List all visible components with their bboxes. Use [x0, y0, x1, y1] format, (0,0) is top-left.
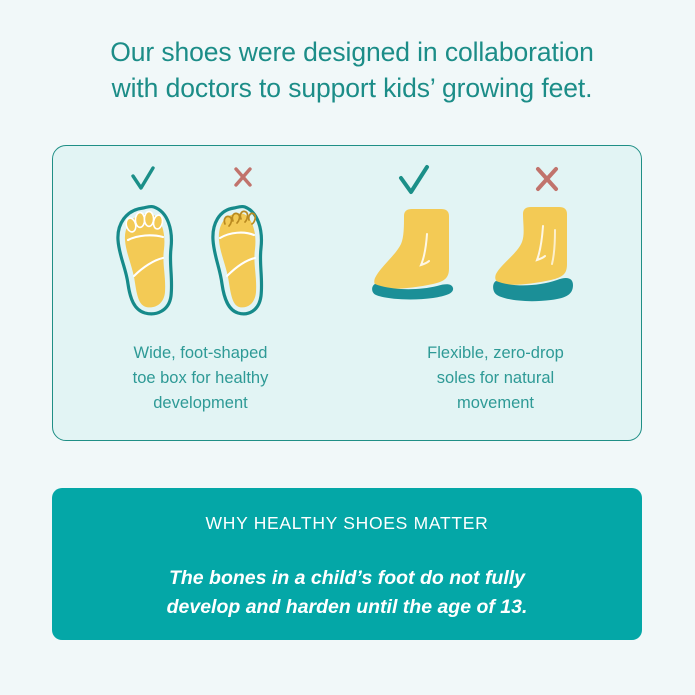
foot-narrow: [212, 206, 261, 313]
caption-line-3: movement: [376, 391, 616, 416]
boot-flat: [372, 209, 453, 299]
feature-zero-drop-sole: Flexible, zero-drop soles for natural mo…: [348, 146, 643, 440]
feature-toe-box: Wide, foot-shaped toe box for healthy de…: [53, 146, 348, 440]
boots-illustration: [348, 164, 643, 324]
banner-title: WHY HEALTHY SHOES MATTER: [52, 513, 642, 534]
page-title-line-2: with doctors to support kids’ growing fe…: [52, 70, 652, 106]
cross-icon: [236, 169, 250, 185]
feature-caption-zero-drop: Flexible, zero-drop soles for natural mo…: [376, 341, 616, 416]
caption-line-1: Flexible, zero-drop: [376, 341, 616, 366]
banner-body-line-2: develop and harden until the age of 13.: [52, 593, 642, 622]
caption-line-1: Wide, foot-shaped: [81, 341, 321, 366]
feet-illustration: [53, 164, 348, 324]
boot-heeled: [493, 207, 573, 301]
foot-wide: [117, 206, 171, 313]
check-icon: [133, 168, 153, 188]
cross-icon: [538, 169, 556, 189]
feature-card: Wide, foot-shaped toe box for healthy de…: [52, 145, 642, 441]
page-title: Our shoes were designed in collaboration…: [52, 34, 652, 106]
page-title-line-1: Our shoes were designed in collaboration: [52, 34, 652, 70]
why-healthy-shoes-banner: WHY HEALTHY SHOES MATTER The bones in a …: [52, 488, 642, 640]
banner-body: The bones in a child’s foot do not fully…: [52, 564, 642, 622]
caption-line-2: soles for natural: [376, 366, 616, 391]
check-icon: [401, 167, 427, 192]
caption-line-3: development: [81, 391, 321, 416]
feature-caption-toe-box: Wide, foot-shaped toe box for healthy de…: [81, 341, 321, 416]
caption-line-2: toe box for healthy: [81, 366, 321, 391]
banner-body-line-1: The bones in a child’s foot do not fully: [52, 564, 642, 593]
infographic-page: Our shoes were designed in collaboration…: [0, 0, 695, 695]
